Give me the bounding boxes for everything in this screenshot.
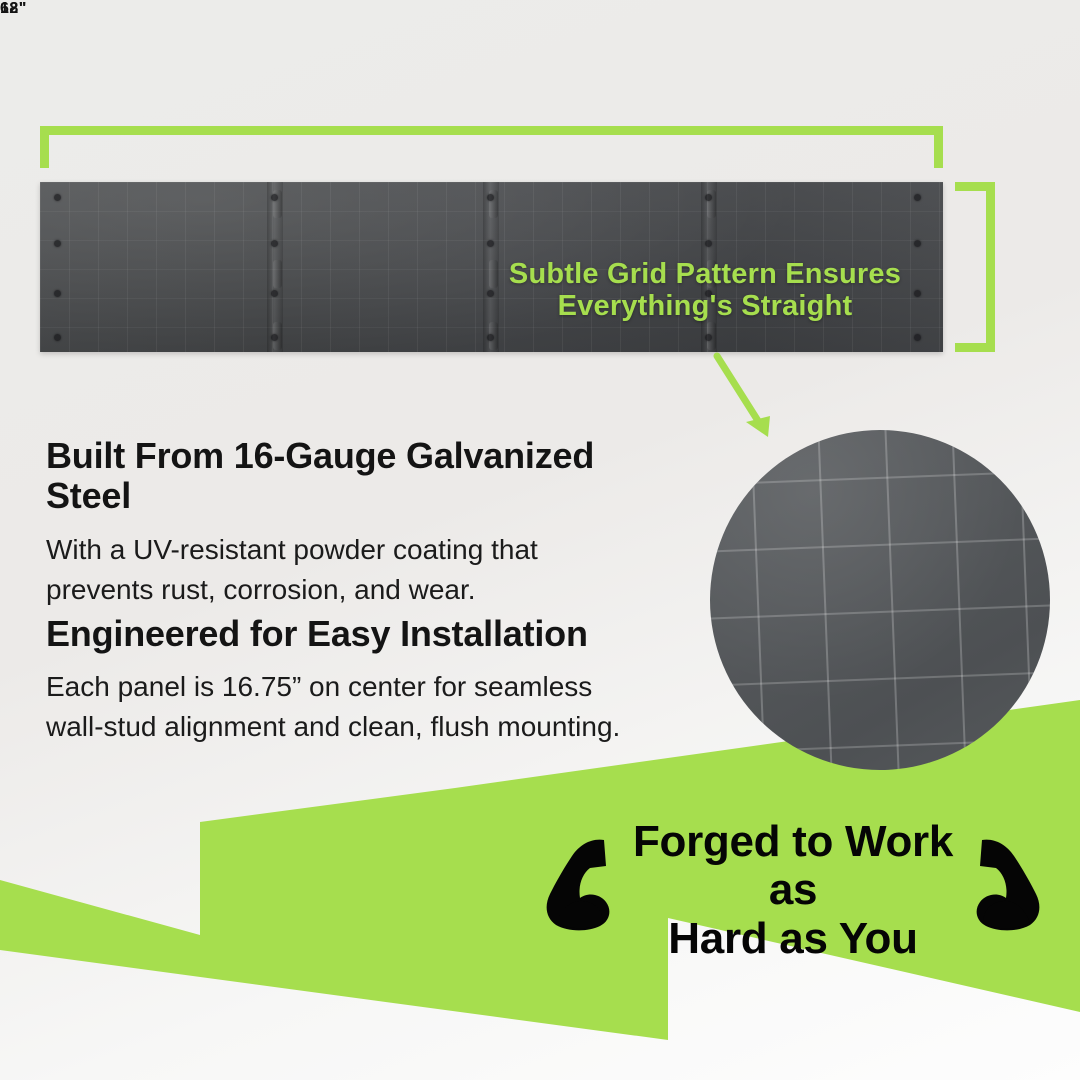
flexed-biceps-icon <box>960 836 1044 932</box>
panel-screw-icon <box>487 334 494 341</box>
feature-body: With a UV-resistant powder coating that … <box>46 530 646 610</box>
panel-screw-icon <box>54 290 61 297</box>
panel-screw-icon <box>271 240 278 247</box>
bracket-tick-top <box>955 182 995 191</box>
panel-screw-icon <box>54 240 61 247</box>
panel-screw-icon <box>271 194 278 201</box>
infographic-canvas: 68" 12" <box>0 0 1080 1080</box>
bracket-bar <box>986 182 995 352</box>
panel-screw-icon <box>54 194 61 201</box>
panel-screw-icon <box>487 240 494 247</box>
banner-tagline-group: Forged to Work as Hard as You <box>556 818 1030 940</box>
width-dimension-bracket <box>40 126 943 168</box>
callout-line-2: Everything's Straight <box>470 290 940 322</box>
height-dimension-bracket <box>955 182 995 352</box>
height-dimension-label: 12" <box>0 0 27 18</box>
feature-body-line-1: With a UV-resistant powder coating that <box>46 534 538 565</box>
panel-screw-icon <box>487 194 494 201</box>
grid-pattern-callout: Subtle Grid Pattern Ensures Everything's… <box>470 258 940 323</box>
panel-screw-icon <box>271 290 278 297</box>
magnified-grid-texture <box>710 430 1050 770</box>
panel-screw-icon <box>914 194 921 201</box>
panel-screw-icon <box>914 240 921 247</box>
bracket-bar <box>40 126 943 135</box>
panel-screw-icon <box>705 240 712 247</box>
feature-body-line-1: Each panel is 16.75” on center for seaml… <box>46 671 592 702</box>
banner-tagline: Forged to Work as Hard as You <box>618 818 968 963</box>
feature-block-steel: Built From 16-Gauge Galvanized Steel Wit… <box>46 436 646 610</box>
bracket-tick-left <box>40 126 49 168</box>
tagline-line-2: Hard as You <box>618 915 968 963</box>
callout-line-1: Subtle Grid Pattern Ensures <box>470 258 940 290</box>
bracket-tick-bottom <box>955 343 995 352</box>
flexed-biceps-icon <box>542 836 626 932</box>
magnified-grid-circle <box>710 430 1050 770</box>
panel-screw-icon <box>705 194 712 201</box>
feature-heading: Engineered for Easy Installation <box>46 614 666 654</box>
feature-body: Each panel is 16.75” on center for seaml… <box>46 667 666 747</box>
tagline-line-1: Forged to Work as <box>618 818 968 915</box>
panel-screw-icon <box>271 334 278 341</box>
feature-heading: Built From 16-Gauge Galvanized Steel <box>46 436 646 517</box>
feature-body-line-2: wall-stud alignment and clean, flush mou… <box>46 711 620 742</box>
feature-block-installation: Engineered for Easy Installation Each pa… <box>46 614 666 747</box>
feature-body-line-2: prevents rust, corrosion, and wear. <box>46 574 476 605</box>
panel-screw-icon <box>914 334 921 341</box>
bracket-tick-right <box>934 126 943 168</box>
panel-screw-icon <box>54 334 61 341</box>
panel-seam <box>267 182 283 352</box>
